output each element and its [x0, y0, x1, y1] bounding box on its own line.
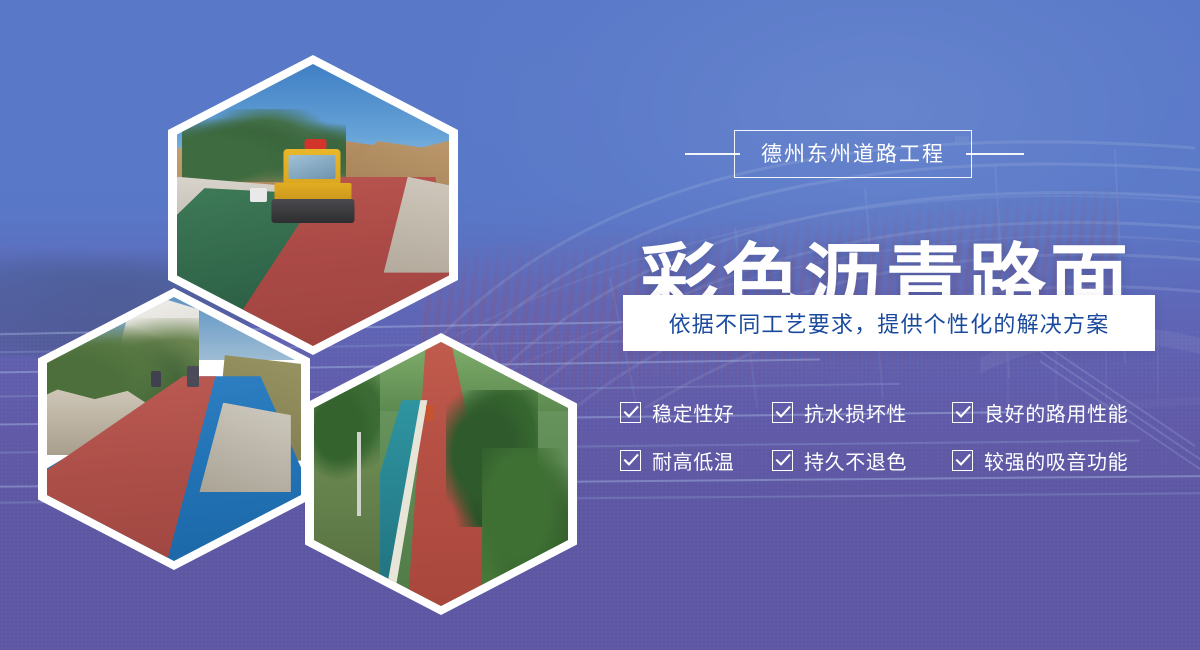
photo-red-blue-bike-path	[47, 297, 301, 561]
photo-roller-window	[289, 155, 336, 179]
content-column: 德州东州道路工程 彩色沥青路面 依据不同工艺要求，提供个性化的解决方案 稳定性好…	[600, 0, 1200, 650]
photo-roller-drum	[271, 199, 355, 223]
subtitle-text: 依据不同工艺要求，提供个性化的解决方案	[669, 307, 1110, 339]
check-icon	[620, 402, 641, 423]
eyebrow-banner: 德州东州道路工程	[685, 128, 1175, 180]
feature-label: 持久不退色	[804, 446, 907, 475]
feature-item[interactable]: 良好的路用性能	[952, 398, 1190, 427]
photo-greenway-red-teal-path	[314, 342, 568, 606]
feature-list: 稳定性好 抗水损坏性 良好的路用性能 耐高低温	[620, 388, 1190, 484]
feature-label: 稳定性好	[652, 398, 734, 427]
photo-clip	[177, 64, 449, 346]
photo-lamp-pole	[357, 432, 361, 516]
check-icon	[772, 450, 793, 471]
photo-parked-car	[250, 188, 266, 202]
eyebrow-box: 德州东州道路工程	[734, 130, 972, 178]
photo-pedestrian	[426, 405, 434, 421]
photo-rider	[187, 366, 200, 387]
photo-rider-second	[151, 371, 161, 387]
photo-road-roller	[269, 149, 356, 228]
feature-label: 抗水损坏性	[804, 398, 907, 427]
company-name: 德州东州道路工程	[761, 144, 945, 165]
feature-item[interactable]: 耐高低温	[620, 446, 772, 475]
feature-label: 较强的吸音功能	[984, 446, 1128, 475]
check-icon	[772, 402, 793, 423]
feature-label: 良好的路用性能	[984, 398, 1128, 427]
feature-item[interactable]: 抗水损坏性	[772, 398, 952, 427]
check-icon	[952, 450, 973, 471]
feature-item[interactable]: 稳定性好	[620, 398, 772, 427]
photo-clip	[47, 297, 301, 561]
colored-asphalt-promo-banner: 德州东州道路工程 彩色沥青路面 依据不同工艺要求，提供个性化的解决方案 稳定性好…	[0, 0, 1200, 650]
eyebrow-rule-right	[966, 153, 1024, 155]
feature-item[interactable]: 较强的吸音功能	[952, 446, 1190, 475]
feature-label: 耐高低温	[652, 446, 734, 475]
photo-roller-on-colored-asphalt	[177, 64, 449, 346]
eyebrow-rule-left	[685, 153, 740, 155]
subtitle-box: 依据不同工艺要求，提供个性化的解决方案	[623, 295, 1155, 351]
photo-clip	[314, 342, 568, 606]
check-icon	[620, 450, 641, 471]
feature-item[interactable]: 持久不退色	[772, 446, 952, 475]
check-icon	[952, 402, 973, 423]
